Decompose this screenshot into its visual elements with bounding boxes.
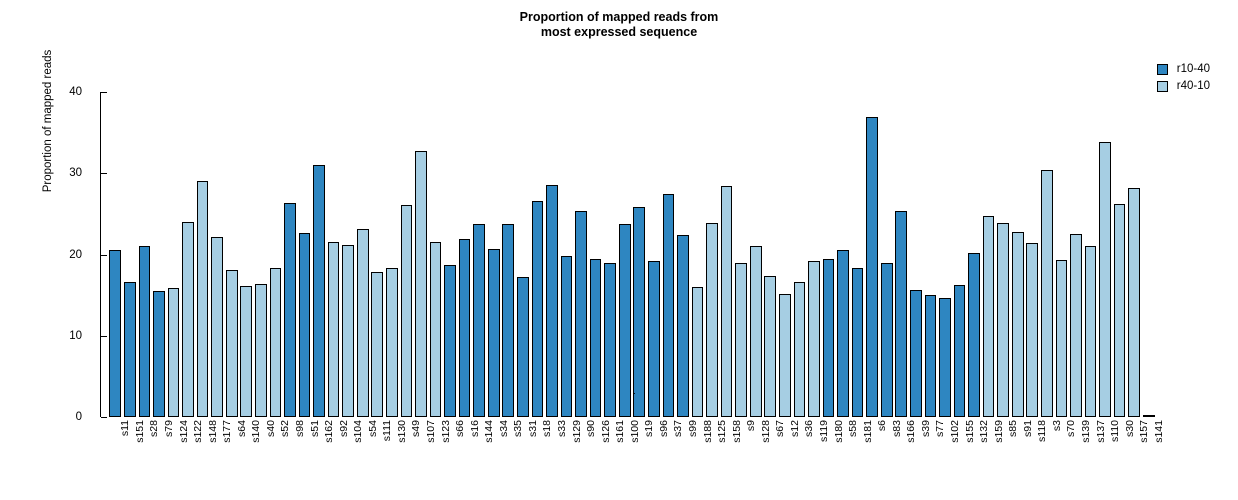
x-axis-tick-label: s19 [643,420,655,437]
bar[interactable]: Bacteroides [968,253,980,417]
plot-area: BacteroidesBacteroidesBacteroidesBactero… [108,92,1156,417]
x-axis-tick-labels: s11s151s28s79s124s122s148s177s64s140s40s… [108,420,1156,496]
bar-slot: Bacteroides [808,92,820,417]
bar-slot: Clostridium sensu stricto [852,92,864,417]
bar[interactable]: Bacteroides [313,165,325,417]
bar[interactable]: Bacteroides [1128,188,1140,417]
bar-slot: Bacteroides [1114,92,1126,417]
x-axis-tick-label: s110 [1109,420,1121,442]
bar[interactable]: Klebsiella [561,256,573,417]
bar-slot: Bacteroides [182,92,194,417]
bar-genus-label: Bacteroides [240,362,241,412]
bar-genus-label: Bacteroides [532,362,533,412]
bar[interactable]: Bacteroides [328,242,340,418]
bar-genus-label: Bacteroides [866,362,867,412]
bar[interactable]: Bacteroides [226,270,238,417]
bar[interactable]: Bacteroides [139,246,151,417]
bar-genus-label: Bacteroides [1099,362,1100,412]
x-axis-tick-label: s128 [760,420,772,443]
page-title: Proportion of mapped reads from most exp… [0,10,1238,40]
bar-genus-label: Bacteroides [197,362,198,412]
bar-slot: Bacteroides [270,92,282,417]
bar[interactable]: Bacteroides [997,223,1009,417]
x-axis-tick-label: s67 [774,420,786,437]
x-axis-tick-label: s180 [833,420,845,443]
bar-genus-label: Bacteroides [648,362,649,412]
bar-slot: Bacteroides [997,92,1009,417]
x-axis-tick-label: s40 [265,420,277,437]
bar-slot: Bacteroides [211,92,223,417]
x-axis-tick-label: s141 [1153,420,1165,443]
x-axis-tick-label: s35 [512,420,524,437]
x-axis-tick-label: s36 [803,420,815,437]
x-axis-tick-label: s188 [702,420,714,443]
bar-genus-label: Bacteroides [328,362,329,412]
x-axis-tick-label: s100 [629,420,641,443]
bar-slot: Bacteroides [925,92,937,417]
bar-slot: Bacteroides [226,92,238,417]
bar[interactable]: Bacteroides [663,194,675,417]
legend-item[interactable]: r10-40 [1157,62,1210,77]
bar-genus-label: Bacteroides [692,362,693,412]
bar[interactable]: Bacteroides [750,246,762,417]
bar-slot: Bacteroides [255,92,267,417]
bar-slot: Bacteroides [328,92,340,417]
bar-genus-label: Bacteroides [168,362,169,412]
bar-slot: Bacteroides [939,92,951,417]
bar-genus-label: Bacteroides [255,362,256,412]
bar[interactable]: Clostridium sensu stricto [837,250,849,417]
bar[interactable]: Bacteroides [211,237,223,417]
bar-slot: Bacteroides [240,92,252,417]
bar-genus-label: Bacteroides [663,362,664,412]
y-axis-tick-label: 30 [69,167,82,179]
x-axis-tick-label: s83 [891,420,903,437]
x-axis-tick-label: s79 [163,420,175,437]
x-axis-tick-label: s31 [527,420,539,437]
x-axis-tick-label: s107 [425,420,437,443]
bar-genus-label: Bacteroides [881,362,882,412]
x-axis-tick-label: s132 [978,420,990,443]
bar[interactable]: Bacteroides [779,294,791,418]
bar-genus-label: Bacteroides [895,362,896,412]
bar-genus-label: Bacteroides [386,362,387,412]
bar-slot: Bacteroides [386,92,398,417]
bar-slot: Bacteroides [895,92,907,417]
bar[interactable]: Bacteroides [371,272,383,417]
bar-genus-label: Bacteroides [619,362,620,412]
bar[interactable]: Bacteroides [648,261,660,417]
bar-slot: Bacteroides [401,92,413,417]
bar-genus-label: Bacteroides [604,362,605,412]
bar-genus-label: Bacteroides [109,362,110,412]
x-axis-tick-label: s92 [338,420,350,437]
x-axis-tick-label: s54 [367,420,379,437]
bar-genus-label: Bacteroides [983,362,984,412]
x-axis-tick-label: s28 [148,420,160,437]
bar-slot: Bacteroides [866,92,878,417]
bar-genus-label: Bacteroides [735,362,736,412]
bar[interactable]: Bacteroides [415,151,427,418]
bar[interactable]: Bacteroides [109,250,121,417]
bar-slot: Streptococcus [633,92,645,417]
bar-group: BacteroidesBacteroidesBacteroidesBactero… [108,92,1156,417]
x-axis-tick-label: s9 [745,420,757,431]
bar-slot: Bacteroides [488,92,500,417]
x-axis-tick-label: s64 [236,420,248,437]
bar-slot: Bacteroides [153,92,165,417]
bar-slot: Bacteroides [139,92,151,417]
bar-genus-label: Bacteroides [968,362,969,412]
legend-label: r40-10 [1177,81,1210,92]
bar-slot: Bacteroides [1085,92,1097,417]
bar[interactable]: Bacteroides [459,239,471,417]
bar-genus-label: Bacteroides [342,362,343,412]
bar-genus-label: Bacteroides [590,362,591,412]
x-axis-tick-label: s144 [483,420,495,443]
x-axis-tick-label: s39 [920,420,932,437]
x-axis-tick-label: s6 [876,420,888,431]
x-axis-tick-label: s126 [600,420,612,443]
bar-genus-label: Clostridium sensu stricto [852,309,853,412]
bar-genus-label: Clostridium sensu stricto [837,309,838,412]
bar-slot: Bacteroides [1012,92,1024,417]
x-axis-tick-label: s66 [454,420,466,437]
x-axis-tick-label: s85 [1007,420,1019,437]
x-axis-tick-label: s139 [1080,420,1092,443]
bar-slot: Bacteroides [357,92,369,417]
bar[interactable]: Bacteroides [604,263,616,417]
bar-slot: Bacteroides [168,92,180,417]
bar-slot: Anaerotruncus [721,92,733,417]
bar-slot: Bacteroides [459,92,471,417]
x-axis-tick-label: s70 [1065,420,1077,437]
x-axis-tick-label: s137 [1095,420,1107,443]
y-axis-tick-label: 10 [69,330,82,342]
x-axis-tick-label: s37 [672,420,684,437]
x-axis-tick-label: s118 [1036,420,1048,442]
bar-slot: Bacteroides [706,92,718,417]
bar-slot: Bacteroides [124,92,136,417]
bar[interactable]: Bacteroides [386,268,398,417]
bar-genus-label: Bacteroides [415,362,416,412]
y-axis-tick [101,417,107,418]
bar[interactable]: Ruminococcus [954,285,966,417]
bar-slot: Klebsiella [517,92,529,417]
bar-slot: Bacteroides [983,92,995,417]
bar-genus-label: Bacteroides [706,362,707,412]
x-axis-tick-label: s125 [716,420,728,443]
legend-label: r10-40 [1177,64,1210,75]
x-axis-tick-label: s166 [905,420,917,443]
x-axis-tick-label: s130 [396,420,408,443]
bar[interactable]: Bacteroides [881,263,893,417]
x-axis-tick-label: s111 [381,420,393,441]
bar-genus-label: Bacteroides [299,362,300,412]
bar[interactable]: Clostridium sensu stricto [852,268,864,418]
bar-genus-label: Bacteroides [284,362,285,412]
bar[interactable]: Bacteroides [357,229,369,417]
bar-slot: Bacteroides [794,92,806,417]
x-axis-tick-label: s140 [250,420,262,443]
bar-slot: Bacteroides [197,92,209,417]
bar-slot: Bacteroides [342,92,354,417]
bar-genus-label: Bacteroides [764,362,765,412]
x-axis-tick-label: s99 [687,420,699,437]
bar[interactable]: Bacteroides [473,224,485,417]
bar-genus-label: Bacteroides [1070,362,1071,412]
x-axis-tick-label: s123 [440,420,452,443]
bar-genus-label: Bacteroides [925,362,926,412]
bar-slot: Bacteroides [415,92,427,417]
y-axis-tick [101,173,107,174]
bar-genus-label: Ruminococcus [954,350,955,412]
bar[interactable]: Bacteroides [983,216,995,417]
bar[interactable]: Bacteroides [677,235,689,417]
bar-slot: Bacteroides [677,92,689,417]
bar[interactable]: Bacteroides [299,233,311,417]
bar-genus-label: Bacteroides [313,362,314,412]
x-axis-tick-label: s77 [934,420,946,437]
x-axis-tick-label: s96 [658,420,670,437]
bar-slot: Bacteroides [968,92,980,417]
bar[interactable]: Bacteroides [1070,234,1082,417]
bar-genus-label: Bacteroides [270,362,271,412]
bar[interactable]: Bacteroides [532,201,544,417]
x-axis-tick-label: s119 [818,420,830,442]
bar-slot: Bacteroides [735,92,747,417]
bar-slot: Bacteroides [473,92,485,417]
x-axis-tick-label: s91 [1022,420,1034,437]
y-axis-tick-label: 0 [76,411,82,423]
legend-item[interactable]: r40-10 [1157,79,1210,94]
bar-slot: Bacteroides [1143,92,1155,417]
x-axis-tick-label: s159 [993,420,1005,443]
bar-slot: Bacteroides [1026,92,1038,417]
bar[interactable]: Bacteroides [764,276,776,417]
bar[interactable]: Klebsiella [517,277,529,417]
bar[interactable]: Bacteroides [1085,246,1097,417]
x-axis-tick-label: s122 [192,420,204,443]
x-axis-tick-label: s157 [1138,420,1150,443]
x-axis-tick-label: s181 [862,420,874,443]
x-axis-tick-label: s161 [614,420,626,443]
bar-slot: Clostridium sensu stricto [837,92,849,417]
bar-slot: Klebsiella [546,92,558,417]
bar-slot: Bacteroides [619,92,631,417]
bar-genus-label: Klebsiella [546,371,547,412]
bar-slot: Bacteroides [881,92,893,417]
bar-slot: Bacteroides [1070,92,1082,417]
bar[interactable]: Bacteroides [124,282,136,417]
bar-genus-label: Bacteroides [939,362,940,412]
bar[interactable]: Bacteroides [1114,204,1126,417]
bar[interactable]: Bacteroides [488,249,500,417]
x-axis-tick-label: s155 [964,420,976,443]
bar[interactable]: Bacteroides [925,295,937,417]
bar[interactable]: Bacteroides [1041,170,1053,417]
bar-genus-label: Bacteroides [1056,362,1057,412]
bar[interactable]: Bacteroides [1099,142,1111,417]
bar-genus-label: Bacteroides [444,362,445,412]
bar-genus-label: Faecalibacterium [823,340,824,412]
y-axis-tick [101,255,107,256]
x-axis-tick-label: s151 [134,420,146,443]
bar[interactable]: Bacteroides [342,245,354,417]
bar-genus-label: Bacteroides [575,362,576,412]
bar[interactable]: Bacteroides [182,222,194,417]
x-axis-tick-label: s177 [221,420,233,443]
x-axis-tick-label: s148 [207,420,219,443]
bar[interactable]: Bacteroides [401,205,413,417]
bar[interactable]: Bacteroides [619,224,631,417]
bar-genus-label: Bacteroides [910,362,911,412]
x-axis-tick-label: s18 [541,420,553,437]
x-axis-tick-label: s16 [469,420,481,437]
bar-slot: Bacteroides [750,92,762,417]
bar-slot: Bacteroides [284,92,296,417]
x-axis-tick-label: s30 [1124,420,1136,437]
bar[interactable]: Bacteroides [153,291,165,417]
bar-genus-label: Bacteroides [808,362,809,412]
bar[interactable]: Bacteroides [1026,243,1038,417]
x-axis-tick-label: s49 [410,420,422,437]
bar[interactable]: Bacteroides [1143,415,1155,417]
bar-genus-label: Bacteroides [473,362,474,412]
bar-slot: Bacteroides [604,92,616,417]
bar-slot: Bacteroides [590,92,602,417]
bar[interactable]: Bacteroides [430,242,442,417]
bar-genus-label: Bacteroides [401,362,402,412]
bar-slot: Bacteroides [371,92,383,417]
bar[interactable]: Bacteroides [255,284,267,417]
y-axis-tick-label: 20 [69,249,82,261]
bar-genus-label: Bacteroides [139,362,140,412]
y-axis-tick [101,336,107,337]
bar-genus-label: Anaerotruncus [721,350,722,412]
bar-genus-label: Bacteroides [488,362,489,412]
bar-slot: Bacteroides [692,92,704,417]
bar[interactable]: Anaerotruncus [721,186,733,417]
bar[interactable]: Bacteroides [794,282,806,417]
x-axis-tick-label: s102 [949,420,961,443]
bar[interactable]: Bacteroides [1012,232,1024,417]
bar-genus-label: Bacteroides [794,362,795,412]
bar[interactable]: Bacteroides [270,268,282,418]
y-axis-title: Proportion of mapped reads [42,0,54,261]
bar-genus-label: Bacteroides [211,362,212,412]
bar-genus-label: Bacteroides [430,362,431,412]
x-axis-tick-label: s34 [498,420,510,437]
bar[interactable]: Bacteroides [910,290,922,417]
bar[interactable]: Bacteroides [197,181,209,417]
bar-genus-label: Bacteroides [182,362,183,412]
bar-genus-label: Bacteroides [153,362,154,412]
bar[interactable]: Bacteroides [444,265,456,417]
x-axis-tick-label: s124 [178,420,190,443]
bar-slot: Bacteroides [764,92,776,417]
x-axis-tick-label: s98 [294,420,306,437]
bar[interactable]: Bacteroides [575,211,587,417]
bar-slot: Bacteroides [1056,92,1068,417]
bar-genus-label: Bacteroides [750,362,751,412]
x-axis-tick-label: s33 [556,420,568,437]
bar-slot: Ruminococcus [954,92,966,417]
bar[interactable]: Bacteroides [502,224,514,417]
bar-genus-label: Bacteroides [1041,362,1042,412]
x-axis-tick-label: s51 [309,420,321,437]
bar[interactable]: Bacteroides [590,259,602,417]
bar-slot: Bacteroides [532,92,544,417]
bar-genus-label: Klebsiella [561,371,562,412]
bar-slot: Bacteroides [299,92,311,417]
legend-swatch-icon [1157,64,1168,75]
bar[interactable]: Bacteroides [692,287,704,417]
bar[interactable]: Klebsiella [546,185,558,417]
bar-slot: Bacteroides [779,92,791,417]
bar[interactable]: Bacteroides [866,117,878,417]
bar-genus-label: Bacteroides [357,362,358,412]
bar[interactable]: Bacteroides [808,261,820,417]
x-axis-tick-label: s58 [847,420,859,437]
bar-genus-label: Bacteroides [124,362,125,412]
bar-genus-label: Bacteroides [371,362,372,412]
bar-slot: Bacteroides [575,92,587,417]
bar[interactable]: Bacteroides [168,288,180,417]
bar[interactable]: Bacteroides [735,263,747,417]
bar[interactable]: Bacteroides [895,211,907,417]
bar[interactable]: Bacteroides [284,203,296,418]
bar-slot: Bacteroides [1128,92,1140,417]
bar[interactable]: Bacteroides [1056,260,1068,417]
bar-genus-label: Bacteroides [1114,362,1115,412]
x-axis-tick-label: s52 [279,420,291,437]
bar-genus-label: Bacteroides [677,362,678,412]
bar-genus-label: Bacteroides [502,362,503,412]
bar[interactable]: Bacteroides [240,286,252,417]
bar[interactable]: Bacteroides [939,298,951,417]
bar-genus-label: Bacteroides [1012,362,1013,412]
bar-slot: Klebsiella [561,92,573,417]
bar-genus-label: Bacteroides [459,362,460,412]
bar[interactable]: Bacteroides [706,223,718,417]
bar-slot: Bacteroides [910,92,922,417]
bar-slot: Bacteroides [1041,92,1053,417]
bar-slot: Bacteroides [648,92,660,417]
y-axis-tick [101,92,107,93]
x-axis-tick-label: s11 [119,420,131,436]
x-axis-tick-label: s12 [789,420,801,437]
x-axis-tick-label: s104 [352,420,364,443]
bar-genus-label: Streptococcus [633,352,634,412]
bar-slot: Bacteroides [663,92,675,417]
bar-genus-label: Bacteroides [997,362,998,412]
x-axis-tick-label: s158 [731,420,743,443]
x-axis-tick-label: s129 [571,420,583,443]
legend-swatch-icon [1157,81,1168,92]
bar-genus-label: Bacteroides [1026,362,1027,412]
bar-genus-label: Bacteroides [226,362,227,412]
bar-genus-label: Klebsiella [517,371,518,412]
chart-root: Proportion of mapped reads from most exp… [0,0,1238,500]
bar-slot: Bacteroides [502,92,514,417]
x-axis-tick-label: s3 [1051,420,1063,431]
bar-genus-label: Bacteroides [1085,362,1086,412]
bar[interactable]: Streptococcus [633,207,645,417]
bar-slot: Bacteroides [1099,92,1111,417]
bar[interactable]: Faecalibacterium [823,259,835,417]
bar-slot: Bacteroides [313,92,325,417]
